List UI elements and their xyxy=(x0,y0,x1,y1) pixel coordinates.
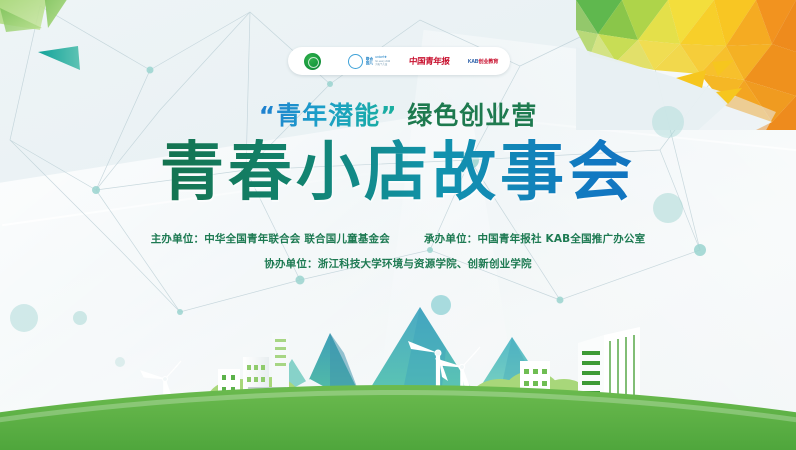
coorganizer-label: 协办单位： xyxy=(264,258,318,270)
china-youth-daily-logo: 中国青年报 xyxy=(402,47,456,75)
coorganizer-value: 浙江科技大学环境与资源学院、创新创业学院 xyxy=(318,258,532,270)
china-youth-daily-wordmark: 中国青年报 xyxy=(408,55,449,67)
kab-logo: KAB创业教育 xyxy=(456,47,510,75)
organizer-value: 中国青年报社 KAB全国推广办公室 xyxy=(477,233,645,245)
green-emblem-logo xyxy=(288,47,336,75)
poster-subtitle: “青年潜能” 绿色创业营 xyxy=(0,96,796,132)
sponsor-logo-bar: 联合 国儿 unicef❖ for every child 为每个儿童 中国青年… xyxy=(288,47,510,75)
poster-main-title: 青春小店故事会 xyxy=(0,139,796,207)
eco-city-illustration xyxy=(0,275,796,450)
organizer-row-secondary: 协办单位：浙江科技大学环境与资源学院、创新创业学院 xyxy=(0,256,796,271)
subtitle-rest: 绿色创业营 xyxy=(398,101,538,130)
host-label: 主办单位： xyxy=(151,233,205,245)
subtitle-quoted: “青年潜能” xyxy=(259,101,398,130)
unicef-tagline-cn: 为每个儿童 xyxy=(375,63,390,66)
organizer-label: 承办单位： xyxy=(424,233,478,245)
unicef-ring-icon xyxy=(348,54,363,69)
unicef-cn-line2: 国儿 xyxy=(366,61,373,65)
poster-canvas: 联合 国儿 unicef❖ for every child 为每个儿童 中国青年… xyxy=(0,0,796,450)
green-circle-icon xyxy=(304,53,321,70)
kab-wordmark: KAB创业教育 xyxy=(468,58,499,65)
unicef-logo: 联合 国儿 unicef❖ for every child 为每个儿童 xyxy=(336,47,402,75)
organizer-row-primary: 主办单位：中华全国青年联合会 联合国儿童基金会承办单位：中国青年报社 KAB全国… xyxy=(0,231,796,246)
host-value: 中华全国青年联合会 联合国儿童基金会 xyxy=(204,233,390,245)
